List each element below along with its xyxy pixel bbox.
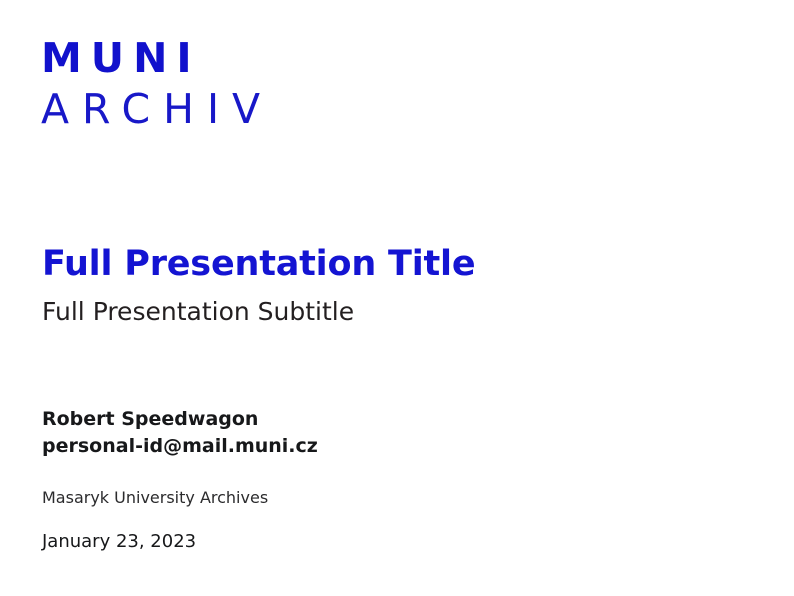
logo-wordmark-muni: MUNI — [41, 36, 273, 80]
logo-wordmark-archiv: ARCHIV — [41, 87, 273, 131]
presentation-title-slide: MUNI ARCHIV Full Presentation Title Full… — [0, 0, 794, 596]
presentation-subtitle: Full Presentation Subtitle — [42, 296, 742, 328]
author-affiliation: Masaryk University Archives — [42, 487, 742, 509]
presentation-title: Full Presentation Title — [42, 243, 742, 285]
title-block: Full Presentation Title Full Presentatio… — [42, 243, 742, 328]
author-meta-block: Robert Speedwagon personal-id@mail.muni.… — [42, 406, 742, 554]
author-email: personal-id@mail.muni.cz — [42, 433, 742, 460]
muni-archiv-logo: MUNI ARCHIV — [41, 36, 273, 131]
author-name: Robert Speedwagon — [42, 406, 742, 433]
presentation-date: January 23, 2023 — [42, 530, 742, 554]
